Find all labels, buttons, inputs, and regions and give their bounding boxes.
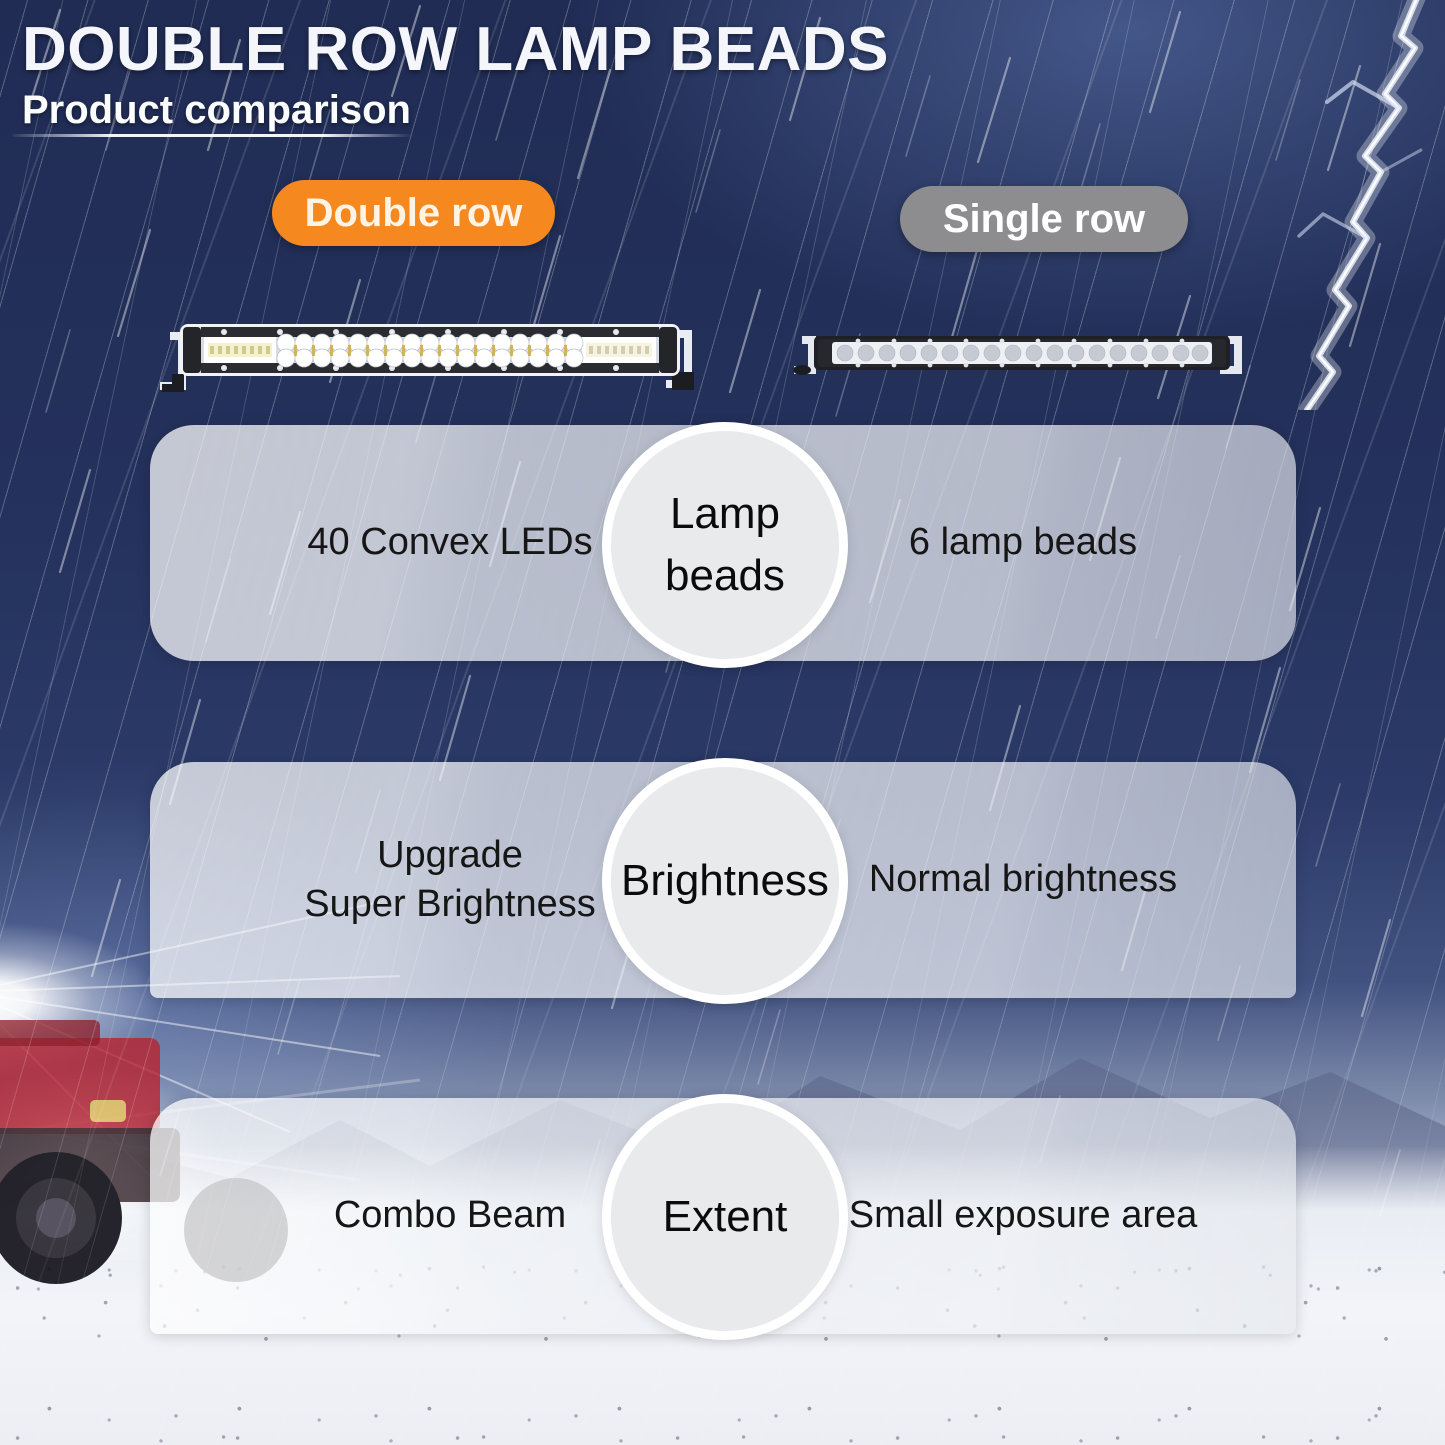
double-row-led-light-bar: [152, 312, 704, 400]
page-title: DOUBLE ROW LAMP BEADS: [22, 14, 889, 85]
badge-double-row[interactable]: Double row: [272, 180, 555, 246]
single-row-led-light-bar: [788, 322, 1256, 384]
page-subtitle: Product comparison: [22, 88, 411, 133]
attribute-badge-extent: Extent: [602, 1094, 848, 1340]
row-2-left-line1: Upgrade: [304, 831, 596, 880]
badge-single-row[interactable]: Single row: [900, 186, 1188, 252]
attribute-badge-lamp-beads: Lamp beads: [602, 422, 848, 668]
subtitle-underline: [12, 134, 412, 137]
product-comparison-infographic: DOUBLE ROW LAMP BEADS Product comparison…: [0, 0, 1445, 1445]
row-2-left-line2: Super Brightness: [304, 880, 596, 929]
attribute-badge-brightness: Brightness: [602, 758, 848, 1004]
